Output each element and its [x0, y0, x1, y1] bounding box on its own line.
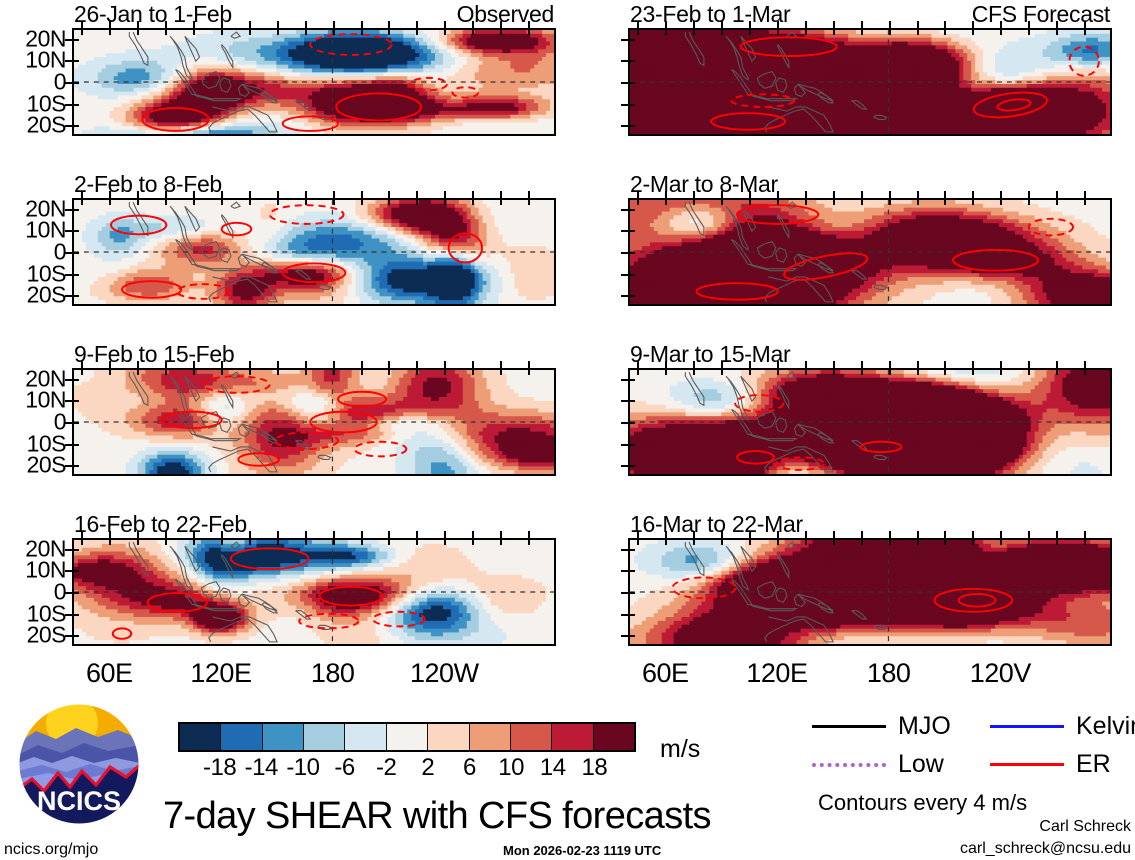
x-axis-tick-label: 60E — [642, 658, 689, 689]
colorbar-tick-label: -10 — [286, 754, 319, 782]
map-panel-1-left: 26-Jan to 1-FebObserved — [72, 28, 556, 136]
footer-timestamp: Mon 2026-02-23 1119 UTC — [503, 843, 661, 858]
map-panel-2-right: 2-Mar to 8-Mar — [628, 198, 1112, 306]
x-axis-tick-label: 180 — [311, 658, 355, 689]
colorbar-swatch-4 — [344, 724, 385, 750]
map-frame — [628, 28, 1112, 136]
colorbar-tick-label: 18 — [582, 754, 608, 782]
colorbar-swatch-10 — [593, 724, 634, 750]
colorbar-swatch-1 — [220, 724, 261, 750]
shear-anomaly-field — [630, 200, 1110, 304]
map-frame — [72, 28, 556, 136]
shear-anomaly-field — [630, 30, 1110, 134]
panel-period-title: 26-Jan to 1-Feb — [74, 1, 232, 28]
map-panel-3-left: 9-Feb to 15-Feb — [72, 368, 556, 476]
panel-period-title: 9-Feb to 15-Feb — [74, 341, 234, 368]
colorbar-tick-label: 2 — [421, 754, 434, 782]
map-frame — [628, 368, 1112, 476]
colorbar-unit-label: m/s — [660, 735, 700, 764]
panel-period-title: 23-Feb to 1-Mar — [630, 1, 790, 28]
colorbar-tick-label: 14 — [540, 754, 566, 782]
contour-legend: MJO Low Kelvin x2 ER — [812, 712, 1112, 782]
author-name: Carl Schreck — [1039, 818, 1131, 836]
colorbar-swatch-3 — [303, 724, 344, 750]
shear-anomaly-field — [630, 540, 1110, 644]
colorbar-swatch-7 — [469, 724, 510, 750]
y-axis-tick-label: 20S — [27, 622, 66, 649]
colorbar-tick-labels: -18-14-10-6-226101418 — [178, 754, 636, 780]
panel-period-title: 2-Mar to 8-Mar — [630, 171, 778, 198]
map-panel-1-right: 23-Feb to 1-MarCFS Forecast — [628, 28, 1112, 136]
x-axis-tick-label: 120E — [190, 658, 251, 689]
shear-anomaly-field — [630, 370, 1110, 474]
footer-site-link[interactable]: ncics.org/mjo — [4, 841, 98, 859]
y-axis-tick-label: 20S — [27, 112, 66, 139]
map-panel-4-left: 16-Feb to 22-Feb — [72, 538, 556, 646]
legend-item-er: ER — [990, 750, 1111, 779]
legend-label-low: Low — [898, 750, 944, 779]
x-axis-tick-label: 60E — [86, 658, 133, 689]
shear-anomaly-field — [74, 370, 554, 474]
colorbar-swatch-9 — [551, 724, 592, 750]
colorbar: -18-14-10-6-226101418 — [178, 722, 636, 784]
author-email[interactable]: carl_schreck@ncsu.edu — [960, 840, 1131, 858]
shear-anomaly-field — [74, 200, 554, 304]
legend-swatch-mjo — [812, 725, 886, 728]
map-panel-4-right: 16-Mar to 22-Mar — [628, 538, 1112, 646]
colorbar-swatch-5 — [386, 724, 427, 750]
map-panel-2-left: 2-Feb to 8-Feb — [72, 198, 556, 306]
x-axis-tick-label: 120W — [410, 658, 479, 689]
colorbar-tick-label: 6 — [463, 754, 476, 782]
x-axis-tick-label: 120V — [970, 658, 1031, 689]
shear-anomaly-field — [74, 30, 554, 134]
x-axis-tick-label: 120E — [746, 658, 807, 689]
y-axis-tick-label: 20S — [27, 452, 66, 479]
contour-interval-note: Contours every 4 m/s — [818, 790, 1027, 816]
colorbar-swatch-0 — [180, 724, 220, 750]
legend-label-kelvin: Kelvin x2 — [1076, 712, 1135, 741]
legend-swatch-kelvin — [990, 725, 1064, 728]
colorbar-tick-label: -18 — [203, 754, 236, 782]
panel-period-title: 2-Feb to 8-Feb — [74, 171, 222, 198]
colorbar-swatch-6 — [427, 724, 468, 750]
legend-swatch-er — [990, 763, 1064, 766]
colorbar-tick-label: -14 — [245, 754, 278, 782]
x-axis-tick-label: 180 — [867, 658, 911, 689]
map-frame — [628, 538, 1112, 646]
y-axis-tick-label: 20S — [27, 282, 66, 309]
ncics-logo-text: NCICS — [37, 786, 121, 816]
colorbar-tick-label: -6 — [334, 754, 354, 782]
colorbar-tick-label: -2 — [376, 754, 396, 782]
map-frame — [72, 368, 556, 476]
legend-item-mjo: MJO — [812, 712, 951, 741]
colorbar-swatch-2 — [262, 724, 303, 750]
colorbar-swatches — [178, 722, 636, 752]
colorbar-tick-label: 10 — [498, 754, 524, 782]
ncics-logo-graphic: NCICS — [18, 703, 140, 825]
shear-anomaly-field — [74, 540, 554, 644]
legend-label-mjo: MJO — [898, 712, 951, 741]
panel-period-title: 9-Mar to 15-Mar — [630, 341, 790, 368]
map-frame — [72, 198, 556, 306]
map-panel-3-right: 9-Mar to 15-Mar — [628, 368, 1112, 476]
colorbar-swatch-8 — [510, 724, 551, 750]
ncics-logo: NCICS — [18, 703, 140, 825]
legend-item-kelvin: Kelvin x2 — [990, 712, 1135, 741]
legend-item-low: Low — [812, 750, 944, 779]
figure-canvas: 20N10N010S20S20N10N010S20S20N10N010S20S2… — [0, 0, 1135, 860]
panel-source-label: CFS Forecast — [972, 1, 1110, 28]
legend-label-er: ER — [1076, 750, 1111, 779]
map-frame — [628, 198, 1112, 306]
main-title: 7-day SHEAR with CFS forecasts — [163, 795, 711, 838]
legend-swatch-low — [812, 763, 886, 767]
map-frame — [72, 538, 556, 646]
